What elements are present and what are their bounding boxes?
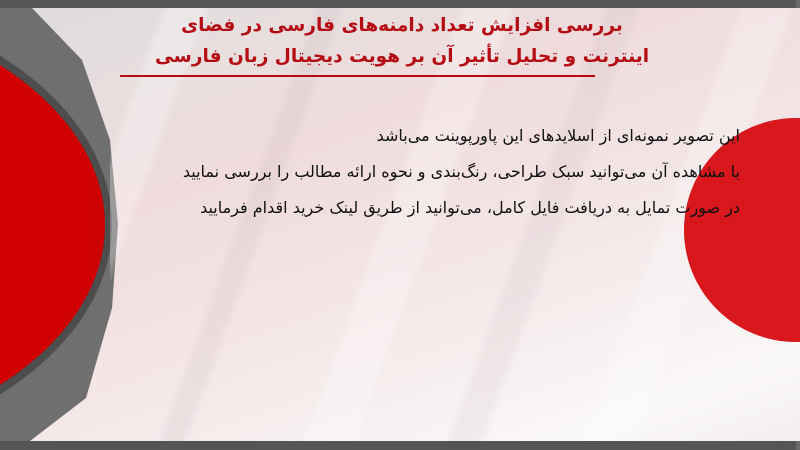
title-line-1: بررسی افزایش تعداد دامنه‌های فارسی در فض… [44, 10, 760, 41]
slide-frame-top [0, 0, 800, 8]
body-line-3: در صورت تمایل به دریافت فایل کامل، می‌تو… [80, 190, 740, 226]
slide-frame-bottom [0, 441, 800, 450]
title-underline [120, 75, 595, 77]
slide-title: بررسی افزایش تعداد دامنه‌های فارسی در فض… [44, 10, 760, 72]
body-line-1: این تصویر نمونه‌ای از اسلایدهای این پاور… [80, 118, 740, 154]
presentation-slide: بررسی افزایش تعداد دامنه‌های فارسی در فض… [0, 0, 800, 450]
slide-body: این تصویر نمونه‌ای از اسلایدهای این پاور… [80, 118, 740, 226]
title-line-2: اینترنت و تحلیل تأثیر آن بر هویت دیجیتال… [44, 41, 760, 72]
body-line-2: با مشاهده آن می‌توانید سبک طراحی، رنگ‌بن… [80, 154, 740, 190]
